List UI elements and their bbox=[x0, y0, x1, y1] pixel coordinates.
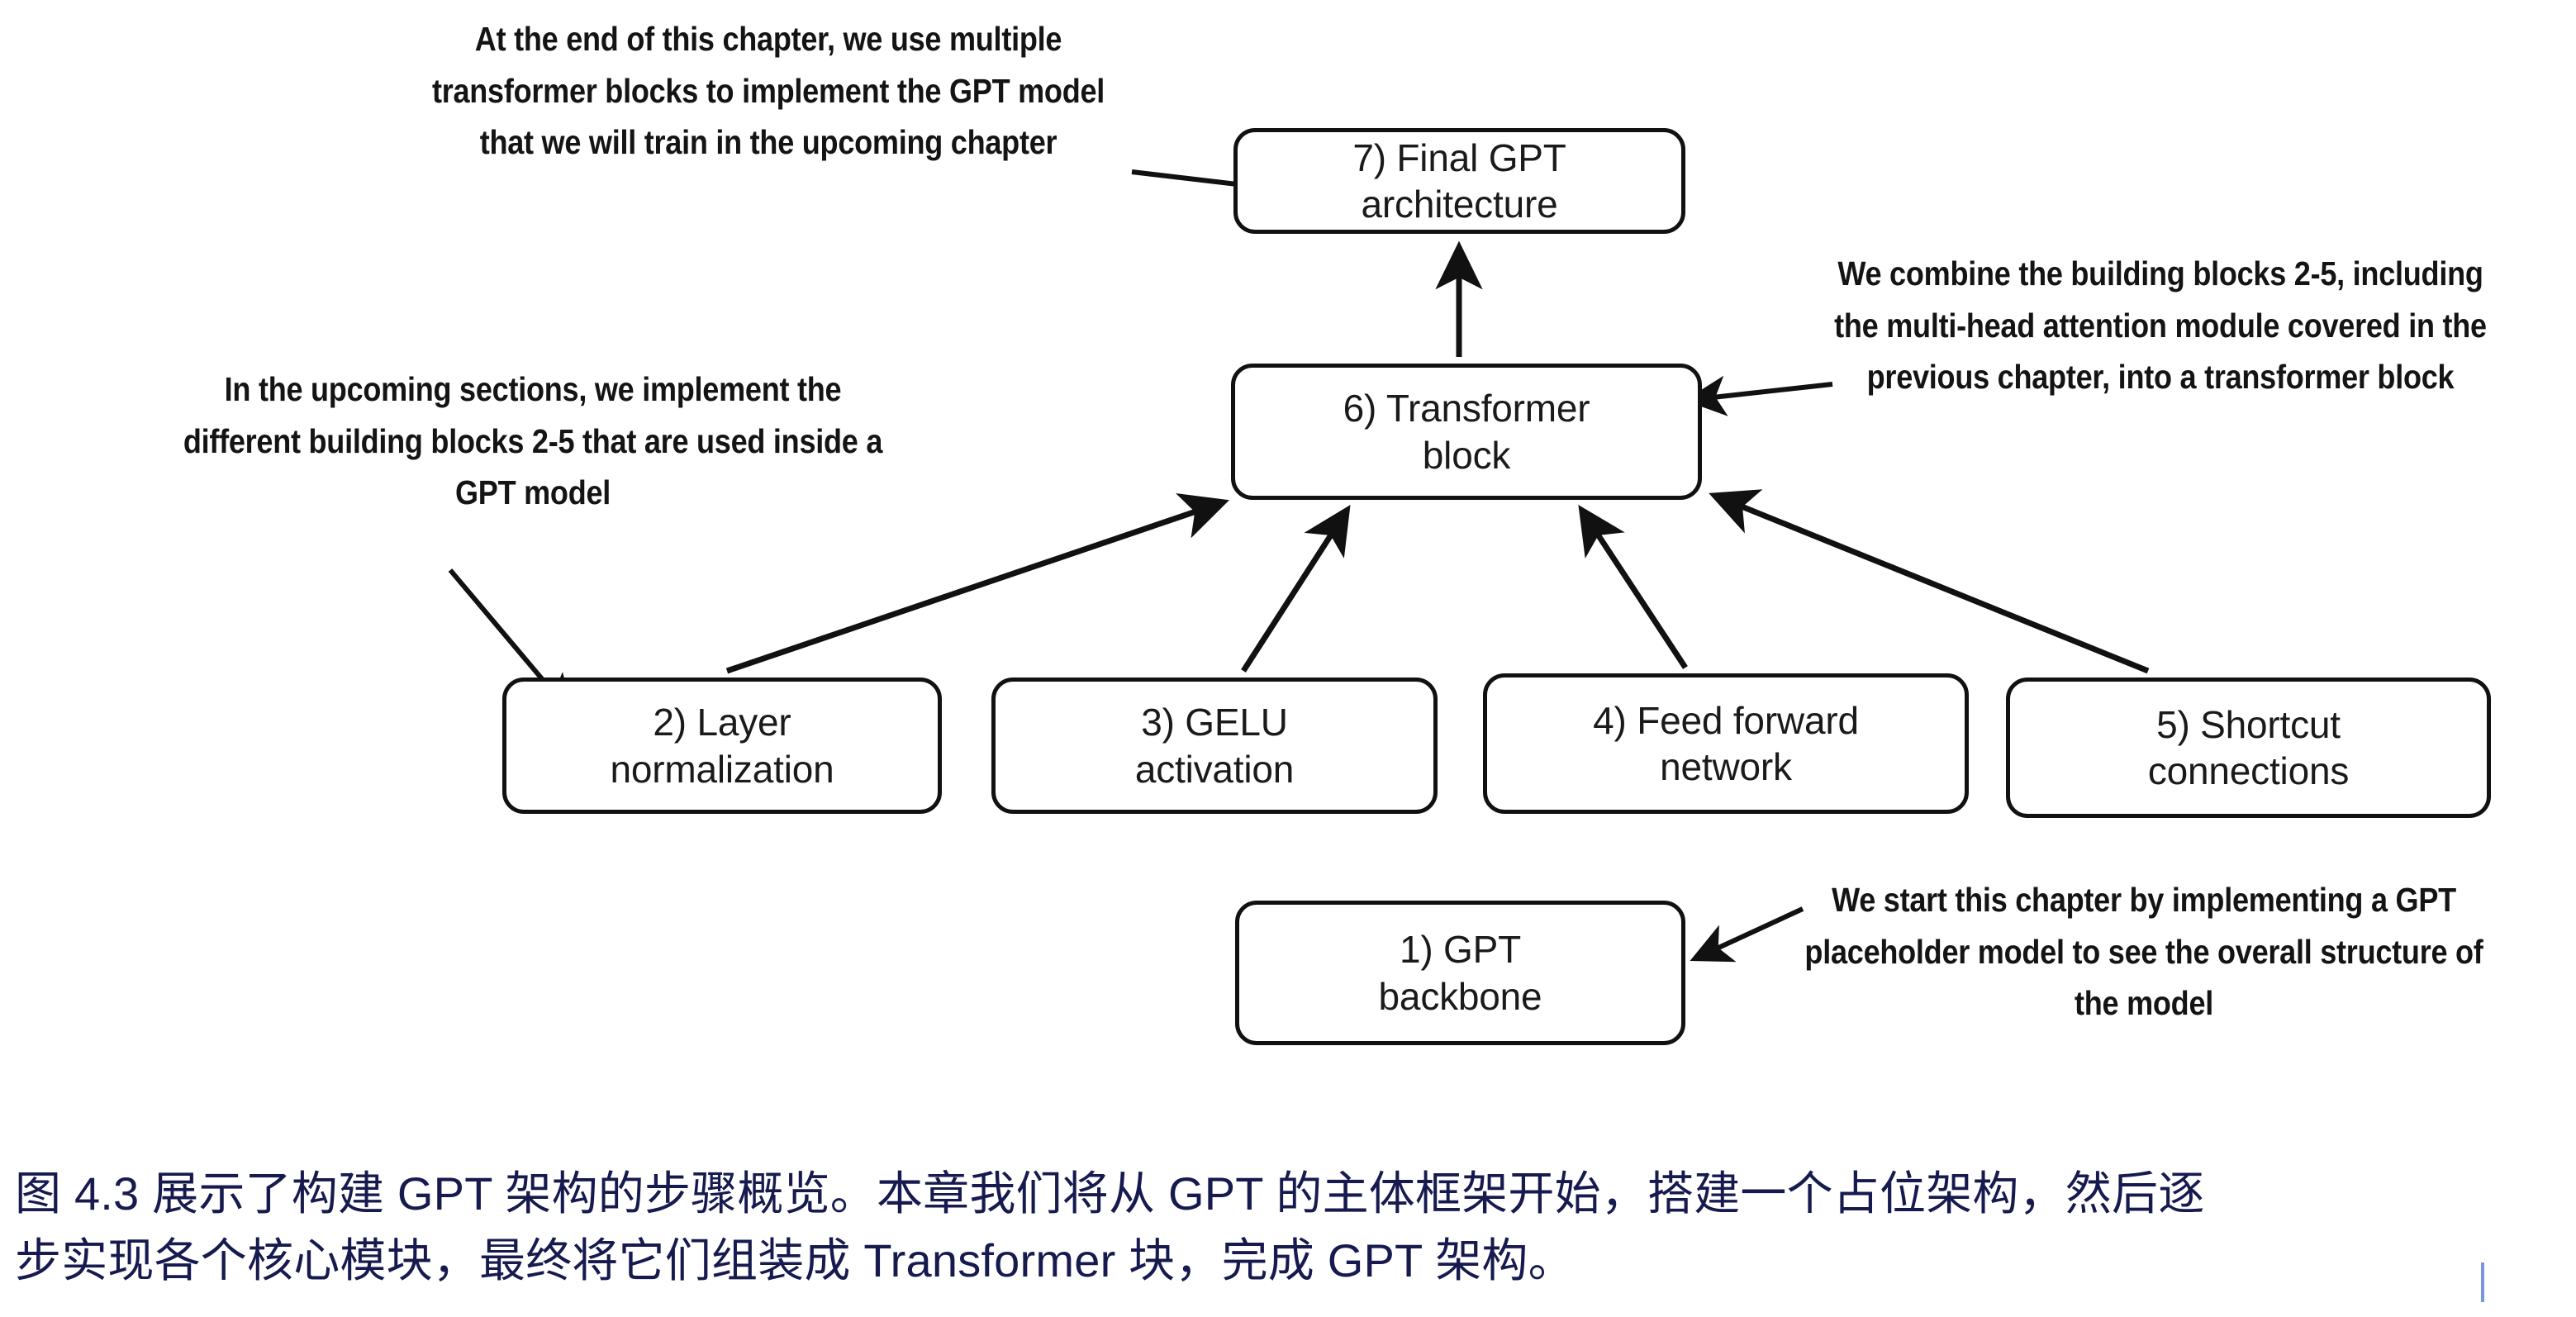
edge-shortcut-to-block bbox=[1715, 496, 2148, 671]
node-shortcut-connections[interactable]: 5) Shortcutconnections bbox=[2006, 678, 2491, 818]
annotation-final-architecture: At the end of this chapter, we use multi… bbox=[412, 13, 1124, 169]
node-gelu-activation[interactable]: 3) GELUactivation bbox=[991, 678, 1438, 814]
node-gelu-activation-label: 3) GELUactivation bbox=[1127, 699, 1302, 792]
node-gpt-backbone[interactable]: 1) GPTbackbone bbox=[1235, 901, 1685, 1045]
node-final-gpt-architecture[interactable]: 7) Final GPTarchitecture bbox=[1233, 128, 1685, 234]
node-layer-normalization[interactable]: 2) Layernormalization bbox=[502, 678, 942, 814]
text-caret[interactable] bbox=[2481, 1262, 2484, 1302]
annotation-building-blocks: In the upcoming sections, we implement t… bbox=[166, 364, 901, 519]
node-feed-forward-network[interactable]: 4) Feed forwardnetwork bbox=[1483, 673, 1969, 814]
node-feed-forward-network-label: 4) Feed forwardnetwork bbox=[1585, 697, 1867, 790]
node-transformer-block[interactable]: 6) Transformerblock bbox=[1231, 364, 1702, 500]
edge-layernorm-to-block bbox=[727, 502, 1223, 671]
edge-note-right-to-block bbox=[1690, 384, 1832, 400]
node-layer-normalization-label: 2) Layernormalization bbox=[602, 699, 843, 792]
annotation-transformer-block: We combine the building blocks 2-5, incl… bbox=[1815, 248, 2506, 403]
node-final-gpt-architecture-label: 7) Final GPTarchitecture bbox=[1344, 135, 1574, 227]
node-transformer-block-label: 6) Transformerblock bbox=[1335, 385, 1599, 478]
caption-line-1: 图 4.3 展示了构建 GPT 架构的步骤概览。本章我们将从 GPT 的主体框架… bbox=[15, 1161, 2568, 1228]
edge-feedforward-to-block bbox=[1582, 511, 1685, 668]
figure-gpt-architecture-overview: 7) Final GPTarchitecture 6) Transformerb… bbox=[0, 0, 2576, 1140]
annotation-gpt-backbone: We start this chapter by implementing a … bbox=[1791, 874, 2497, 1029]
figure-caption: 图 4.3 展示了构建 GPT 架构的步骤概览。本章我们将从 GPT 的主体框架… bbox=[15, 1161, 2568, 1294]
node-gpt-backbone-label: 1) GPTbackbone bbox=[1371, 926, 1551, 1019]
caption-line-2: 步实现各个核心模块，最终将它们组装成 Transformer 块，完成 GPT … bbox=[15, 1228, 2568, 1295]
edge-gelu-to-block bbox=[1243, 511, 1347, 671]
edge-note-bottom-to-backbone bbox=[1695, 909, 1803, 958]
node-shortcut-connections-label: 5) Shortcutconnections bbox=[2140, 701, 2357, 794]
